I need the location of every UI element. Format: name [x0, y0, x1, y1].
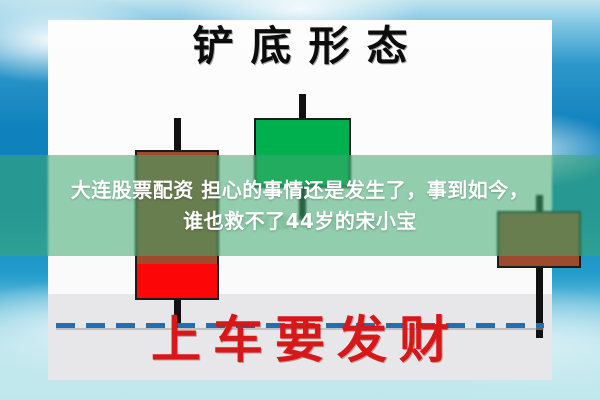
candlestick-1-accent [137, 264, 217, 298]
chart-slogan: 上车要发财 [48, 315, 552, 365]
image-canvas: 铲底形态 南方财富网 市论金 上车要发财 大连股票配资 担心的事情还是发生了，事… [0, 0, 600, 400]
caption-band [0, 155, 600, 256]
